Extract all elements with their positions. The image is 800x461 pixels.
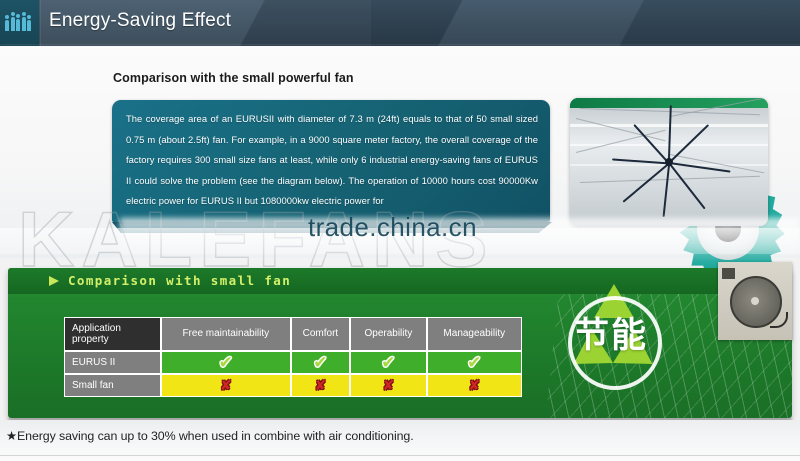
recycle-label: 节能 (565, 316, 657, 356)
slide-root: Energy-Saving Effect Comparison with the… (0, 0, 800, 461)
section-subtitle: Comparison with the small powerful fan (113, 71, 354, 85)
small-fan-photo (718, 262, 792, 340)
cell-eurus-comfort: ✔ (291, 351, 351, 374)
check-icon: ✔ (219, 354, 233, 371)
fan-hub (665, 158, 673, 166)
check-icon: ✔ (313, 354, 327, 371)
cell-smallfan-manageability: ✘ (427, 374, 522, 397)
people-group-icon (0, 0, 39, 46)
footer-divider (0, 455, 800, 456)
recycle-emblem: 节能 (556, 286, 668, 394)
cell-eurus-operability: ✔ (350, 351, 426, 374)
header-operability: Operability (350, 317, 426, 351)
cell-smallfan-comfort: ✘ (291, 374, 351, 397)
row-label-small-fan: Small fan (64, 374, 161, 397)
footer-note: ★Energy saving can up to 30% when used i… (6, 428, 414, 443)
teal-box-tail (112, 222, 552, 233)
cross-icon: ✘ (315, 378, 327, 392)
header-bar: Energy-Saving Effect (0, 0, 800, 46)
page-title: Energy-Saving Effect (49, 10, 231, 32)
header-divider (40, 0, 41, 46)
check-icon: ✔ (381, 354, 395, 371)
cell-smallfan-free-maintainability: ✘ (161, 374, 291, 397)
row-label-eurus: EURUS II (64, 351, 161, 374)
comparison-banner-label: Comparison with small fan (68, 273, 291, 288)
cross-icon: ✘ (383, 378, 395, 392)
header-manageability: Manageability (427, 317, 522, 351)
cell-eurus-manageability: ✔ (427, 351, 522, 374)
description-text: The coverage area of an EURUSII with dia… (126, 109, 538, 212)
people-figures (5, 13, 34, 31)
check-icon: ✔ (467, 354, 481, 371)
fan-bracket (722, 268, 735, 279)
comparison-table: Application property Free maintainabilit… (64, 317, 522, 397)
description-panel: The coverage area of an EURUSII with dia… (112, 100, 550, 222)
table-row: Small fan ✘ ✘ ✘ ✘ (64, 374, 522, 397)
table-header-row: Application property Free maintainabilit… (64, 317, 522, 351)
cross-icon: ✘ (220, 378, 232, 392)
cell-eurus-free-maintainability: ✔ (161, 351, 291, 374)
header-free-maintainability: Free maintainability (161, 317, 291, 351)
header-application-property: Application property (64, 317, 161, 351)
comparison-banner: Comparison with small fan (8, 268, 792, 294)
triangle-arrow-icon (49, 276, 59, 286)
fan-cord (770, 312, 788, 328)
industrial-fan-photo (570, 98, 768, 226)
table-row: EURUS II ✔ ✔ ✔ ✔ (64, 351, 522, 374)
cross-icon: ✘ (468, 378, 480, 392)
header-comfort: Comfort (291, 317, 351, 351)
cell-smallfan-operability: ✘ (350, 374, 426, 397)
